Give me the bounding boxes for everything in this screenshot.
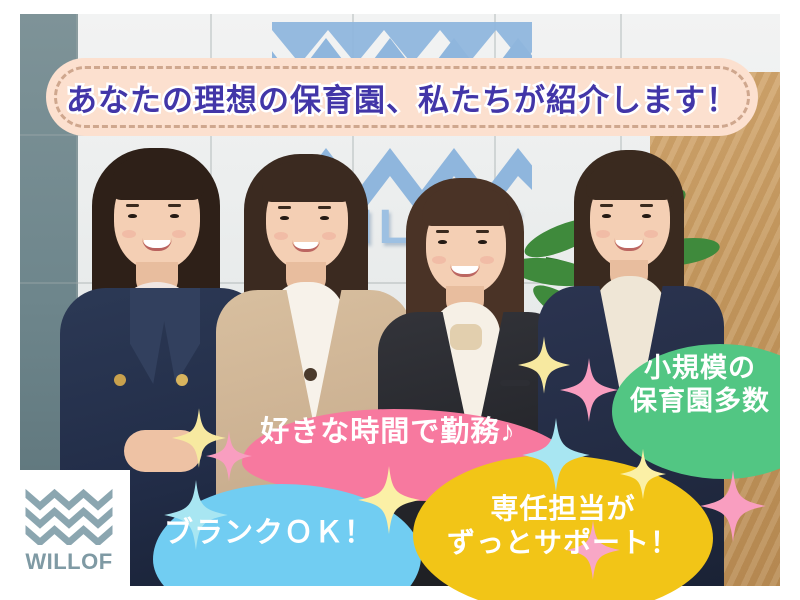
callout-label-dedicated-support: 専任担当が ずっとサポート！ (432, 492, 694, 560)
callout-label-small-nurseries: 小規模の 保育園多数 (600, 352, 800, 418)
sparkle-pink-right-icon (700, 470, 766, 542)
callout-label-flexible-hours: 好きな時間で勤務♪ (238, 415, 538, 450)
zigzag-wave-logo-icon (25, 487, 113, 545)
brand-wordmark: WILLOF (25, 549, 112, 575)
brand-logo: WILLOF (8, 470, 130, 592)
headline-text: あなたの理想の保育園、私たちが紹介します！ (46, 58, 758, 136)
advertisement-poster: WILLOF (0, 0, 800, 600)
callout-label-blank-ok: ブランクＯＫ！ (150, 516, 388, 551)
headline-banner: あなたの理想の保育園、私たちが紹介します！ (46, 58, 758, 136)
